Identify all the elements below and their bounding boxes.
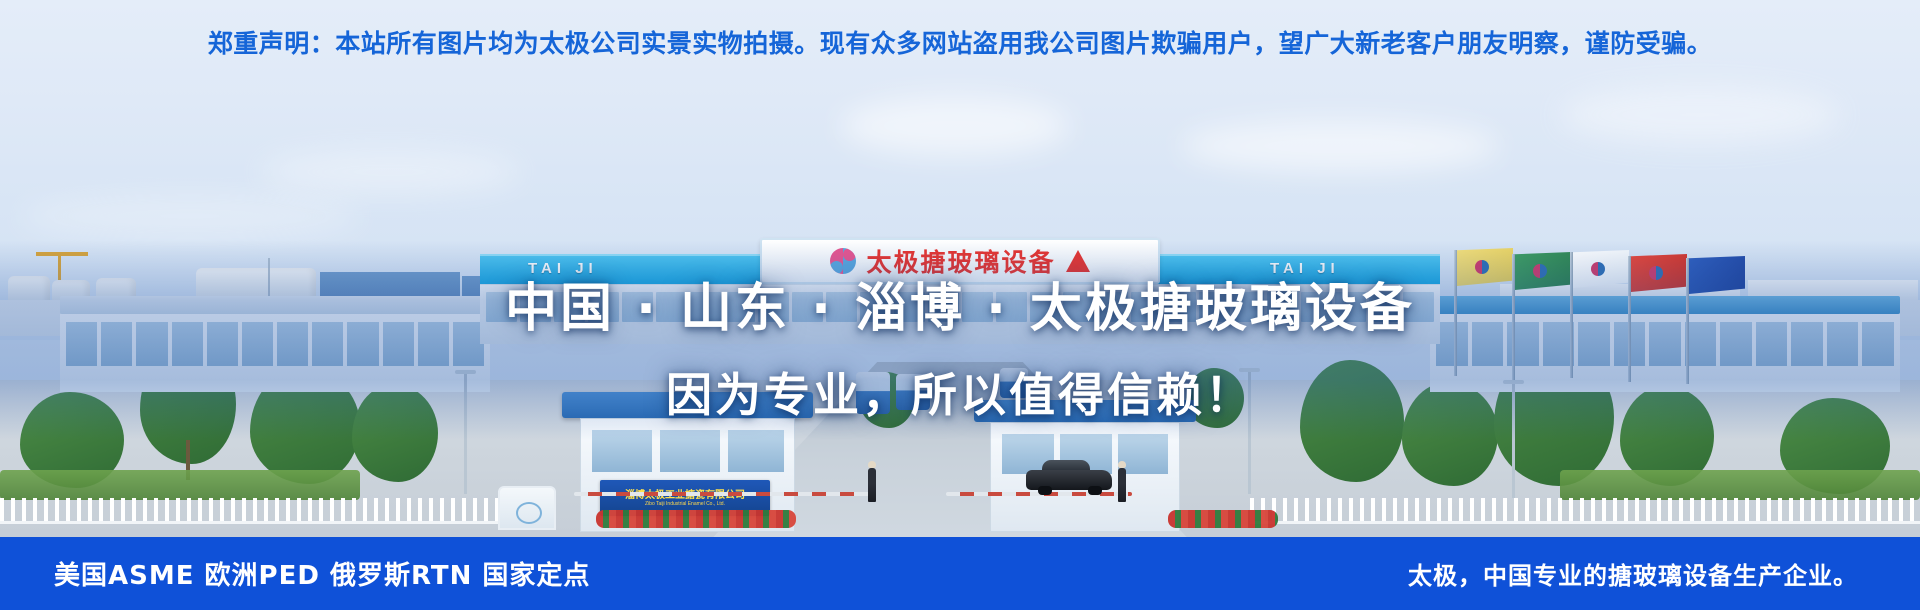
lawn-patch xyxy=(0,470,360,500)
barrier-gate-left xyxy=(574,492,874,496)
tagline-text: 太极，中国专业的搪玻璃设备生产企业。 xyxy=(1408,556,1858,591)
lawn-patch xyxy=(1560,470,1920,500)
cloud xyxy=(1560,86,1840,144)
gate-sign-english: Zibo Taiji Industrial Enamel Co., Ltd. xyxy=(645,501,725,507)
cloud xyxy=(20,196,360,236)
security-guard xyxy=(868,468,876,502)
gatehouse-window xyxy=(728,430,784,472)
security-guard xyxy=(1118,468,1126,502)
company-hero-banner: 郑重声明：本站所有图片均为太极公司实景实物拍摄。现有众多网站盗用我公司图片欺骗用… xyxy=(0,0,1920,610)
cloud xyxy=(840,96,1070,156)
flower-bed xyxy=(596,510,796,528)
bottom-credentials-bar: 美国ASME 欧洲PED 俄罗斯RTN 国家定点 太极，中国专业的搪玻璃设备生产… xyxy=(0,537,1920,610)
car-wheel xyxy=(1088,486,1102,495)
disclaimer-text: 郑重声明：本站所有图片均为太极公司实景实物拍摄。现有众多网站盗用我公司图片欺骗用… xyxy=(208,24,1713,60)
gatehouse-window xyxy=(1118,434,1168,474)
cloud xyxy=(1180,120,1500,172)
headline-line-1: 中国 · 山东 · 淄博 · 太极搪玻璃设备 xyxy=(505,266,1415,341)
flower-bed xyxy=(1168,510,1278,528)
headline-block: 中国 · 山东 · 淄博 · 太极搪玻璃设备 因为专业，所以值得信赖！ xyxy=(0,266,1920,425)
cloud xyxy=(260,150,520,194)
car-wheel xyxy=(1038,486,1052,495)
white-fence-right xyxy=(1250,498,1920,524)
gatehouse-window xyxy=(592,430,652,472)
headline-line-2: 因为专业，所以值得信赖！ xyxy=(666,359,1254,425)
gatehouse-window xyxy=(660,430,720,472)
disclaimer-strip: 郑重声明：本站所有图片均为太极公司实景实物拍摄。现有众多网站盗用我公司图片欺骗用… xyxy=(0,0,1920,84)
white-fence-left xyxy=(0,498,500,524)
crane-icon xyxy=(36,252,88,256)
decorative-gate xyxy=(498,486,556,530)
certifications-text: 美国ASME 欧洲PED 俄罗斯RTN 国家定点 xyxy=(54,555,590,592)
